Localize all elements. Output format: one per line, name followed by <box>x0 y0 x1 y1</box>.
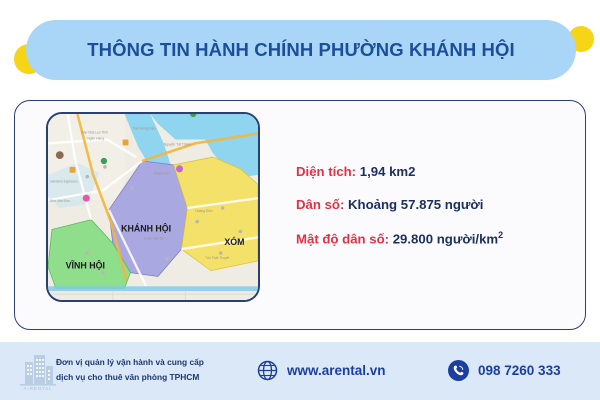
stat-area: Diện tích: 1,94 km2 <box>296 165 576 178</box>
stat-density-superscript: 2 <box>498 230 503 240</box>
stat-area-label: Diện tích: <box>296 164 356 179</box>
svg-text:XÓM: XÓM <box>224 236 244 247</box>
svg-text:Bến Vân Đồn: Bến Vân Đồn <box>50 199 70 203</box>
statistics-list: Diện tích: 1,94 km2 Dân số: Khoảng 57.87… <box>296 165 576 246</box>
footer-website-text: www.arental.vn <box>287 363 386 378</box>
svg-text:A-RENTAL: A-RENTAL <box>24 386 53 391</box>
stat-population: Dân số: Khoảng 57.875 người <box>296 198 576 211</box>
phone-icon <box>448 360 469 381</box>
svg-text:Tôn Thất Thuyết: Tôn Thất Thuyết <box>205 256 229 260</box>
footer-phone-text: 098 7260 333 <box>478 363 561 378</box>
footer-tagline-line2: dịch vụ cho thuê văn phòng TPHCM <box>56 370 204 385</box>
svg-text:Nguyễn Tất Thành: Nguyễn Tất Thành <box>164 141 192 146</box>
svg-text:VĨNH HỘI: VĨNH HỘI <box>66 260 105 271</box>
title-pill: THÔNG TIN HÀNH CHÍNH PHƯỜNG KHÁNH HỘI <box>26 20 576 80</box>
footer-phone[interactable]: 098 7260 333 <box>448 360 561 381</box>
district-map[interactable]: Bảo Nhà Lục Tỉnh Ngân Hàng Trần Hưng Đạo… <box>46 112 260 302</box>
arental-logo[interactable]: A-RENTAL <box>16 350 60 392</box>
stat-density-value: 29.800 người/km <box>393 232 498 247</box>
footer-tagline-line1: Đơn vị quản lý vận hành và cung cấp <box>56 355 204 370</box>
page-title: THÔNG TIN HÀNH CHÍNH PHƯỜNG KHÁNH HỘI <box>87 39 514 61</box>
svg-text:Khánh Hội: Khánh Hội <box>154 172 170 176</box>
globe-icon <box>257 360 278 381</box>
stat-population-label: Dân số: <box>296 197 344 212</box>
svg-text:Ngân Hàng: Ngân Hàng <box>87 136 104 140</box>
stat-population-value: Khoảng 57.875 người <box>348 197 483 212</box>
footer-website[interactable]: www.arental.vn <box>257 360 386 381</box>
svg-text:Bảo Nhà Lục Tỉnh: Bảo Nhà Lục Tỉnh <box>81 131 108 135</box>
map-graphic: Bảo Nhà Lục Tỉnh Ngân Hàng Trần Hưng Đạo… <box>48 114 258 300</box>
footer-bar: A-RENTAL Đơn vị quản lý vận hành và cung… <box>0 342 600 400</box>
svg-text:KHÁNH HỘI: KHÁNH HỘI <box>121 222 171 233</box>
svg-text:Hoàng Diệu: Hoàng Diệu <box>195 209 213 213</box>
stat-density: Mật độ dân số: 29.800 người/km2 <box>296 231 576 246</box>
header-banner: THÔNG TIN HÀNH CHÍNH PHƯỜNG KHÁNH HỘI <box>0 0 600 100</box>
footer-tagline: Đơn vị quản lý vận hành và cung cấp dịch… <box>56 355 204 385</box>
svg-text:Gardens Espresso: Gardens Espresso <box>50 180 78 184</box>
stat-area-value: 1,94 km2 <box>360 164 416 179</box>
svg-text:Trần Hưng Đạo: Trần Hưng Đạo <box>132 127 155 131</box>
svg-text:Đoàn Văn Bơ: Đoàn Văn Bơ <box>144 236 165 240</box>
stat-density-label: Mật độ dân số: <box>296 232 389 247</box>
